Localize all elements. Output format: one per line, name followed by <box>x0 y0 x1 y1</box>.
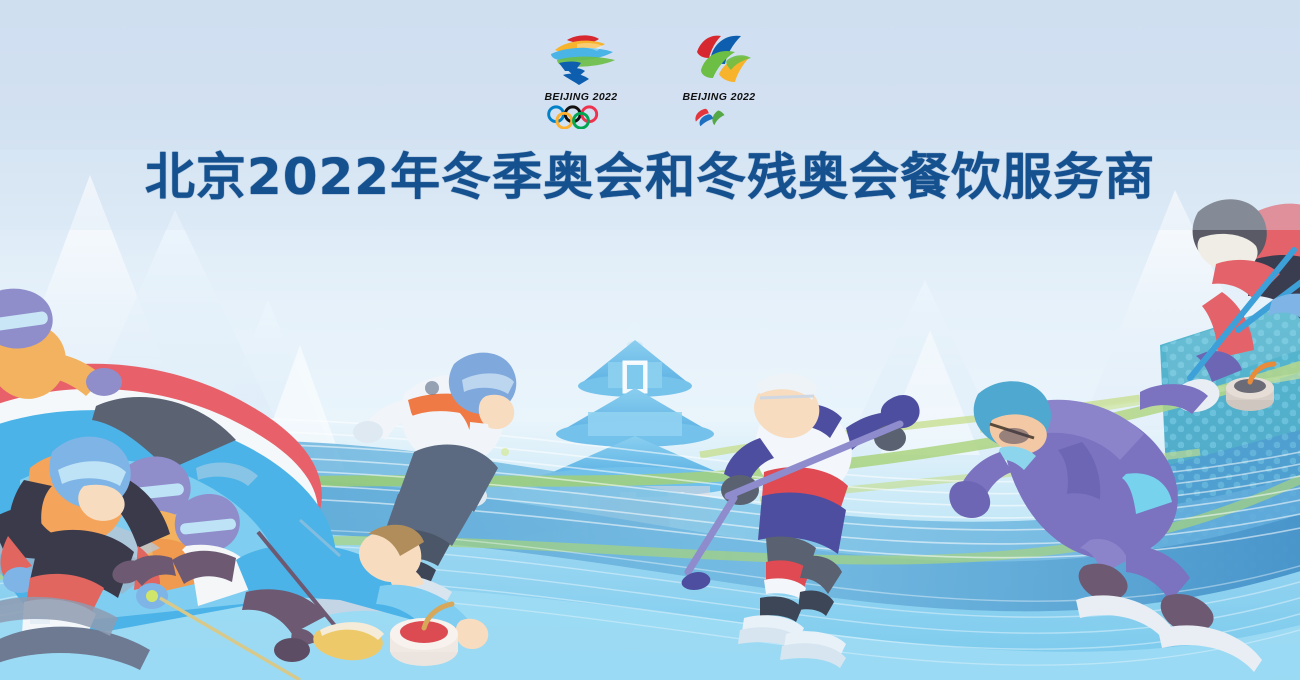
olympic-emblem-block: BEIJING 2022 <box>533 30 629 129</box>
paralympic-wordmark: BEIJING 2022 <box>682 91 755 103</box>
beijing-2022-paralympic-emblem-icon <box>671 30 767 88</box>
beijing-2022-olympic-emblem-icon <box>533 30 629 88</box>
olympic-rings-icon <box>536 105 626 129</box>
emblem-row: BEIJING 2022 BEIJING 2022 <box>0 30 1300 140</box>
olympic-wordmark: BEIJING 2022 <box>544 91 617 103</box>
page-title: 北京2022年冬季奥会和冬残奥会餐饮服务商 <box>0 146 1300 208</box>
paralympic-agitos-icon <box>684 105 754 129</box>
beijing-2022-catering-banner: BEIJING 2022 BEIJING 2022 <box>0 0 1300 680</box>
paralympic-emblem-block: BEIJING 2022 <box>671 30 767 129</box>
